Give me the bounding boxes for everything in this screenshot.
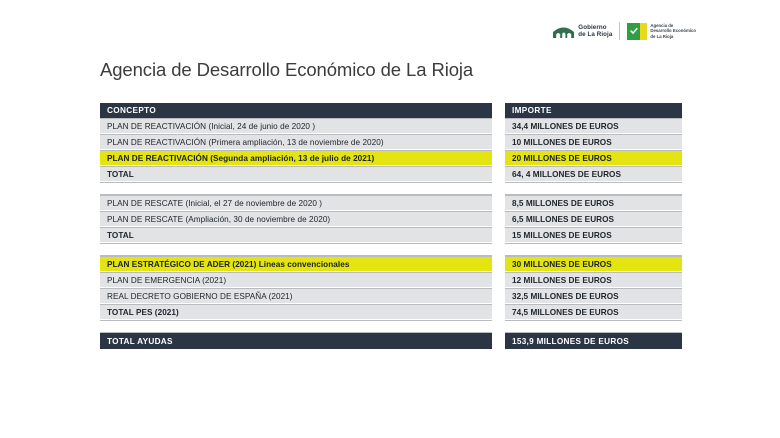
concepto-column: CONCEPTO PLAN DE REACTIVACIÓN (Inicial, … (100, 103, 492, 349)
table-row: TOTAL PES (2021) (100, 304, 492, 320)
table-spacer-row (505, 243, 682, 256)
table-row: 12 MILLONES DE EUROS (505, 272, 682, 288)
table-spacer-row (505, 182, 682, 195)
table-row: 10 MILLONES DE EUROS (505, 134, 682, 150)
table-spacer-row (505, 320, 682, 333)
table-row: PLAN DE REACTIVACIÓN (Primera ampliación… (100, 134, 492, 150)
aid-summary-table: CONCEPTO PLAN DE REACTIVACIÓN (Inicial, … (100, 103, 682, 349)
gobierno-logo-line1: Gobierno (578, 24, 606, 31)
logo-divider (619, 22, 620, 40)
table-row: PLAN DE RESCATE (Ampliación, 30 de novie… (100, 211, 492, 227)
table-row: 30 MILLONES DE EUROS (505, 256, 682, 272)
concepto-column-header: CONCEPTO (100, 103, 492, 118)
ader-logo: Agencia de Desarrollo Económico de La Ri… (627, 23, 696, 40)
table-row: REAL DECRETO GOBIERNO DE ESPAÑA (2021) (100, 288, 492, 304)
importe-rows: 34,4 MILLONES DE EUROS10 MILLONES DE EUR… (505, 118, 682, 349)
table-row: PLAN DE REACTIVACIÓN (Inicial, 24 de jun… (100, 118, 492, 134)
table-row: PLAN DE RESCATE (Inicial, el 27 de novie… (100, 195, 492, 211)
logo-bar: Gobierno de La Rioja Agencia de Desarrol… (553, 22, 696, 40)
ader-logo-line3: de La Rioja (650, 34, 673, 39)
table-spacer-row (100, 243, 492, 256)
table-row: TOTAL AYUDAS (100, 333, 492, 349)
gobierno-logo-text: Gobierno de La Rioja (578, 24, 612, 38)
table-row: 32,5 MILLONES DE EUROS (505, 288, 682, 304)
table-row: 15 MILLONES DE EUROS (505, 227, 682, 243)
table-row: PLAN DE EMERGENCIA (2021) (100, 272, 492, 288)
ader-green-block (627, 23, 640, 40)
check-square-icon (627, 23, 647, 40)
gobierno-logo-line2: de La Rioja (578, 31, 612, 38)
table-row: 20 MILLONES DE EUROS (505, 150, 682, 166)
gobierno-de-la-rioja-logo: Gobierno de La Rioja (553, 23, 612, 39)
table-row: TOTAL (100, 166, 492, 182)
table-row: 8,5 MILLONES DE EUROS (505, 195, 682, 211)
table-spacer-row (100, 320, 492, 333)
table-row: 34,4 MILLONES DE EUROS (505, 118, 682, 134)
table-row: PLAN DE REACTIVACIÓN (Segunda ampliación… (100, 150, 492, 166)
table-row: 64, 4 MILLONES DE EUROS (505, 166, 682, 182)
table-row: 6,5 MILLONES DE EUROS (505, 211, 682, 227)
arch-bridge-icon (553, 23, 574, 39)
table-row: PLAN ESTRATÉGICO DE ADER (2021) Lineas c… (100, 256, 492, 272)
concepto-rows: PLAN DE REACTIVACIÓN (Inicial, 24 de jun… (100, 118, 492, 349)
ader-logo-text: Agencia de Desarrollo Económico de La Ri… (650, 23, 696, 39)
ader-yellow-block (640, 23, 647, 40)
table-row: TOTAL (100, 227, 492, 243)
table-spacer-row (100, 182, 492, 195)
importe-column: IMPORTE 34,4 MILLONES DE EUROS10 MILLONE… (505, 103, 682, 349)
table-row: 153,9 MILLONES DE EUROS (505, 333, 682, 349)
table-row: 74,5 MILLONES DE EUROS (505, 304, 682, 320)
importe-column-header: IMPORTE (505, 103, 682, 118)
page-title: Agencia de Desarrollo Económico de La Ri… (100, 59, 473, 81)
